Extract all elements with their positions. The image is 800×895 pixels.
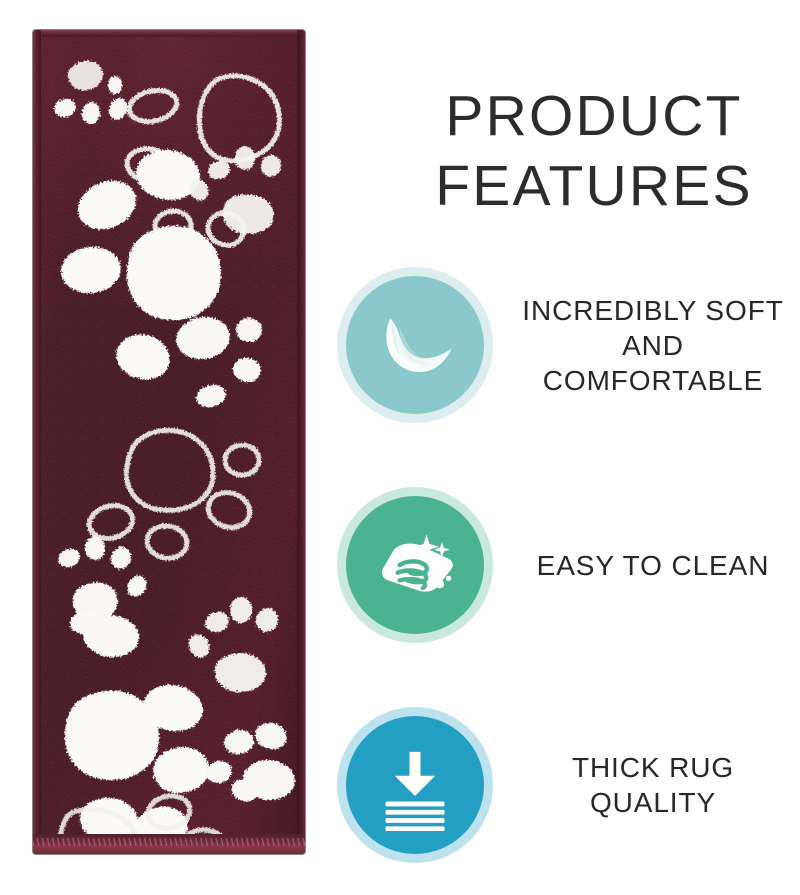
feature-label-1: INCREDIBLY SOFT AND COMFORTABLE (500, 293, 800, 398)
paw-print-pattern (33, 30, 305, 854)
page-title-line-2: FEATURES (398, 152, 790, 222)
feather-icon (369, 299, 461, 391)
feature-list: INCREDIBLY SOFT AND COMFORTABLE (330, 235, 800, 895)
feature-badge-wrap-3 (330, 707, 500, 863)
feature-badge-1 (337, 267, 493, 423)
hand-wiping-cloth-icon (367, 517, 463, 613)
feature-item-incredibly-soft: INCREDIBLY SOFT AND COMFORTABLE (330, 235, 800, 455)
feature-item-thick-rug-quality: THICK RUG QUALITY (330, 675, 800, 895)
feature-label-3-line-1: THICK RUG (506, 750, 800, 785)
page-title-line-1: PRODUCT (398, 82, 790, 152)
rug-left-binding (33, 30, 41, 854)
feature-badge-wrap-1 (330, 267, 500, 423)
feature-label-3: THICK RUG QUALITY (500, 750, 800, 820)
rug-surface (33, 30, 305, 854)
rug-bottom-hem (33, 834, 305, 854)
feature-label-2: EASY TO CLEAN (500, 548, 800, 583)
feature-label-2-line-1: EASY TO CLEAN (506, 548, 800, 583)
feature-item-easy-to-clean: EASY TO CLEAN (330, 455, 800, 675)
down-arrow-layers-icon (369, 739, 461, 831)
feature-label-1-line-3: COMFORTABLE (506, 363, 800, 398)
feature-badge-wrap-2 (330, 487, 500, 643)
rug-right-binding (297, 30, 305, 854)
feature-label-1-line-2: AND (506, 328, 800, 363)
feature-label-3-line-2: QUALITY (506, 785, 800, 820)
rug-top-binding (33, 30, 305, 37)
feature-label-1-line-1: INCREDIBLY SOFT (506, 293, 800, 328)
page-title: PRODUCT FEATURES (398, 82, 790, 221)
feature-badge-2 (337, 487, 493, 643)
feature-badge-3 (337, 707, 493, 863)
product-image-rug (33, 30, 305, 854)
